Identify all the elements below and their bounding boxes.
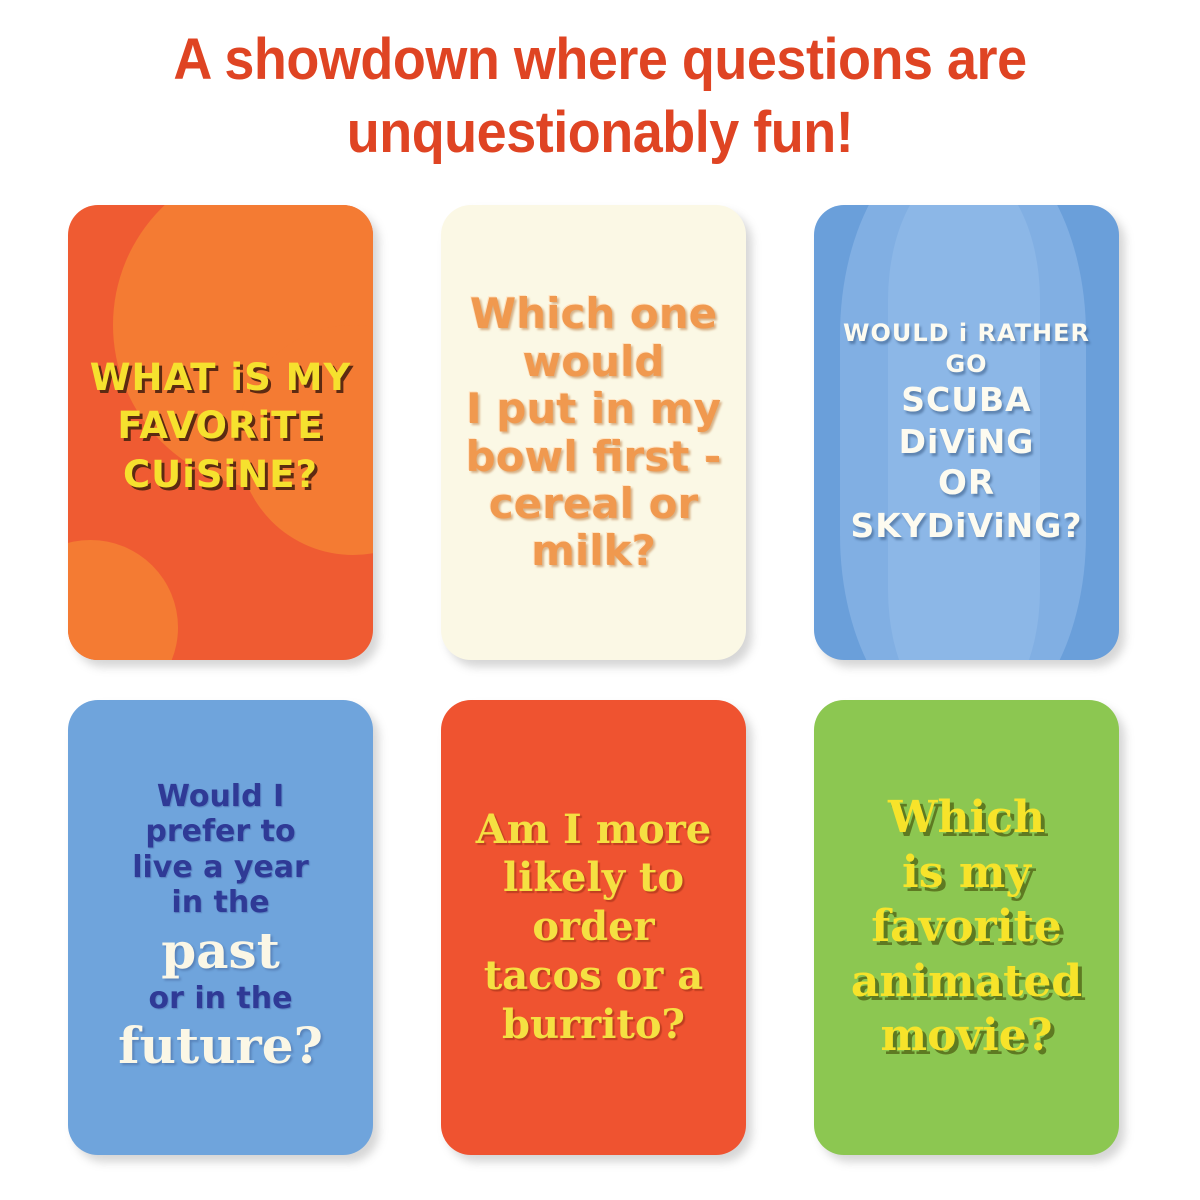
- card-line: animated: [828, 955, 1105, 1010]
- card-line: SCUBA DiViNG: [828, 379, 1105, 462]
- card-question-text: Am I more likely to order tacos or a bur…: [441, 806, 746, 1050]
- card-line-emphasis: future?: [82, 1016, 359, 1076]
- card-question-text: Which is my favorite animated movie?: [814, 791, 1119, 1064]
- question-card-scuba-skydiving[interactable]: WOULD i RATHER GO SCUBA DiViNG OR SKYDiV…: [814, 205, 1119, 660]
- card-line: WHAT iS MY: [82, 354, 359, 402]
- card-question-text: Would I prefer to live a year in the pas…: [68, 779, 373, 1076]
- headline-line-1: A showdown where questions are: [89, 24, 1112, 97]
- promo-poster: A showdown where questions are unquestio…: [0, 0, 1200, 1200]
- card-line: tacos or a: [455, 952, 732, 1001]
- card-line: movie?: [828, 1009, 1105, 1064]
- card-line: OR: [828, 462, 1105, 505]
- card-line: SKYDiViNG?: [828, 505, 1105, 547]
- card-line: or in the: [82, 981, 359, 1016]
- card-line: Which: [828, 791, 1105, 846]
- card-line: bowl first -: [455, 433, 732, 480]
- card-line: Would I: [82, 779, 359, 814]
- card-line: would: [455, 338, 732, 385]
- card-line: Which one: [455, 290, 732, 337]
- question-card-cereal[interactable]: Which one would I put in my bowl first -…: [441, 205, 746, 660]
- card-line: likely to: [455, 854, 732, 903]
- headline-line-2: unquestionably fun!: [89, 97, 1112, 170]
- card-line: in the: [82, 885, 359, 920]
- question-card-past-future[interactable]: Would I prefer to live a year in the pas…: [68, 700, 373, 1155]
- card-line: CUiSiNE?: [82, 451, 359, 499]
- card-line: cereal or: [455, 480, 732, 527]
- card-line: burrito?: [455, 1001, 732, 1050]
- card-line: is my: [828, 846, 1105, 901]
- card-line-emphasis: past: [82, 921, 359, 981]
- card-line: FAVORiTE: [82, 402, 359, 450]
- card-line: milk?: [455, 527, 732, 574]
- question-card-cuisine[interactable]: WHAT iS MY FAVORiTE CUiSiNE?: [68, 205, 373, 660]
- card-question-text: Which one would I put in my bowl first -…: [441, 290, 746, 575]
- card-line: prefer to: [82, 814, 359, 849]
- card-line: favorite: [828, 900, 1105, 955]
- card-line: live a year: [82, 850, 359, 885]
- card-line: order: [455, 903, 732, 952]
- question-card-animated-movie[interactable]: Which is my favorite animated movie?: [814, 700, 1119, 1155]
- card-question-text: WHAT iS MY FAVORiTE CUiSiNE?: [68, 354, 373, 498]
- question-card-tacos-burrito[interactable]: Am I more likely to order tacos or a bur…: [441, 700, 746, 1155]
- page-headline: A showdown where questions are unquestio…: [89, 24, 1112, 169]
- card-question-text: WOULD i RATHER GO SCUBA DiViNG OR SKYDiV…: [814, 318, 1119, 546]
- circle-blob-icon: [68, 540, 178, 660]
- question-card-grid: WHAT iS MY FAVORiTE CUiSiNE? Which one w…: [68, 205, 1130, 1155]
- card-line: Am I more: [455, 806, 732, 855]
- card-line: I put in my: [455, 385, 732, 432]
- card-line: WOULD i RATHER GO: [828, 318, 1105, 378]
